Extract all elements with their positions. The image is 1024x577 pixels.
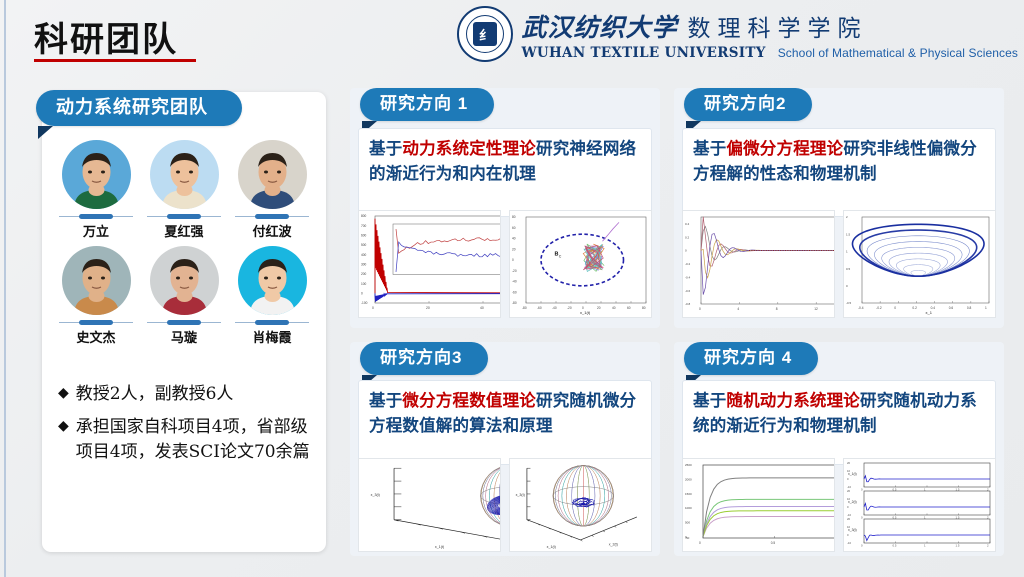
svg-text:0: 0	[699, 307, 701, 311]
member-name: 肖梅霞	[252, 327, 291, 346]
svg-text:-40: -40	[552, 306, 557, 310]
research-card-3: 研究方向3基于微分方程数值理论研究随机微分方程数值解的算法和原理x_3(t)x_…	[350, 342, 660, 556]
svg-text:80: 80	[642, 306, 646, 310]
svg-text:-60: -60	[537, 306, 542, 310]
svg-text:x_3(t): x_3(t)	[516, 493, 525, 497]
svg-text:0: 0	[894, 306, 896, 310]
bullet-text: 承担国家自科项目4项，省部级项目4项，发表SCI论文70余篇	[76, 415, 316, 466]
svg-text:20: 20	[847, 489, 851, 493]
svg-text:20: 20	[847, 517, 851, 521]
name-separator	[147, 214, 221, 219]
badge-label: 研究方向2	[684, 88, 812, 121]
seal-glyph: 纟	[459, 8, 511, 60]
svg-text:-0.2: -0.2	[685, 262, 691, 266]
svg-text:0: 0	[512, 258, 514, 262]
svg-text:0.2: 0.2	[912, 306, 917, 310]
svg-text:x_1(t): x_1(t)	[435, 545, 444, 549]
figure-thumbnail[interactable]: 0481216202428-0.8-0.6-0.4-0.200.20.4t	[682, 210, 835, 318]
badge-label: 研究方向 4	[684, 342, 818, 375]
avatar	[238, 246, 307, 315]
research-card-4: 研究方向 4基于随机动力系统理论研究随机动力系统的渐近行为和物理机制x_1x_2…	[674, 342, 1004, 556]
team-member-grid: 万立夏红强付红波史文杰马璇肖梅霞	[52, 140, 316, 352]
svg-text:20: 20	[512, 247, 516, 251]
svg-text:x_1(t): x_1(t)	[580, 310, 591, 315]
svg-text:-0.4: -0.4	[685, 275, 691, 279]
research-badge-1: 研究方向 1	[360, 88, 494, 121]
svg-text:x_3(t): x_3(t)	[371, 493, 380, 497]
team-member: 肖梅霞	[228, 246, 316, 346]
svg-text:300: 300	[361, 263, 367, 267]
svg-text:1500: 1500	[685, 492, 692, 496]
svg-text:600: 600	[361, 234, 367, 238]
research-badge-2: 研究方向2	[684, 88, 812, 121]
svg-text:0.8: 0.8	[967, 306, 972, 310]
member-name: 史文杰	[76, 327, 115, 346]
svg-text:2000: 2000	[685, 478, 692, 482]
logo-university-cn: 武汉纺织大学	[521, 8, 677, 44]
desc-pre: 基于	[369, 139, 402, 158]
svg-text:-0.5: -0.5	[846, 301, 852, 305]
svg-text:0.5: 0.5	[893, 544, 897, 548]
team-member: 夏红强	[140, 140, 228, 240]
team-member: 付红波	[228, 140, 316, 240]
team-member: 史文杰	[52, 246, 140, 346]
svg-text:80: 80	[512, 215, 516, 219]
svg-text:500: 500	[685, 520, 690, 524]
figure-thumbnail[interactable]: x_3(t)x_1(t)x_2(t)	[358, 458, 501, 552]
research-badge-4: 研究方向 4	[684, 342, 818, 375]
logo-university-en: WUHAN TEXTILE UNIVERSITY	[521, 45, 765, 61]
member-name: 付红波	[252, 221, 291, 240]
member-name: 万立	[83, 221, 109, 240]
svg-text:-0.6: -0.6	[685, 289, 691, 293]
svg-text:1000: 1000	[685, 506, 692, 510]
university-seal-icon: 纟	[457, 6, 513, 62]
svg-text:x_3(t): x_3(t)	[848, 528, 857, 532]
member-name: 马璇	[171, 327, 197, 346]
bullet-marker-icon: ◆	[58, 382, 69, 404]
research-description-3: 基于微分方程数值理论研究随机微分方程数值解的算法和原理	[358, 380, 652, 465]
svg-text:0: 0	[699, 541, 701, 545]
svg-text:8: 8	[776, 307, 778, 311]
svg-text:0: 0	[372, 306, 374, 310]
research-card-1: 研究方向 1基于动力系统定性理论研究神经网络的渐近行为和内在机理x_1(t)x_…	[350, 88, 660, 328]
desc-pre: 基于	[693, 139, 726, 158]
svg-text:-10: -10	[847, 541, 851, 545]
svg-text:0.5: 0.5	[771, 541, 776, 545]
badge-label: 研究方向 1	[360, 88, 494, 121]
svg-text:C: C	[559, 255, 562, 259]
logo-school-en: School of Mathematical & Physical Scienc…	[778, 46, 1018, 60]
figure-thumbnail[interactable]: -0.4-0.200.20.40.60.81-0.500.511.52x_1	[843, 210, 996, 318]
svg-text:-0.2: -0.2	[876, 306, 882, 310]
university-logo: 纟 武汉纺织大学 数理科学学院 WUHAN TEXTILE UNIVERSITY…	[457, 5, 1018, 63]
bullet-text: 教授2人，副教授6人	[76, 382, 316, 408]
research-description-2: 基于偏微分方程理论研究非线性偏微分方程解的性态和物理机制	[682, 128, 996, 217]
team-title: 动力系统研究团队	[36, 90, 242, 126]
desc-pre: 基于	[693, 391, 726, 410]
desc-highlight: 动力系统定性理论	[402, 139, 536, 158]
name-separator	[59, 214, 133, 219]
svg-text:1.5: 1.5	[956, 544, 960, 548]
logo-english-line: WUHAN TEXTILE UNIVERSITY School of Mathe…	[521, 45, 1018, 61]
svg-text:0.6: 0.6	[949, 306, 954, 310]
svg-text:x_1(t): x_1(t)	[547, 545, 556, 549]
svg-text:-60: -60	[512, 290, 517, 294]
team-title-badge: 动力系统研究团队	[36, 90, 242, 126]
svg-text:20: 20	[847, 461, 851, 465]
svg-text:x_1(t): x_1(t)	[848, 472, 857, 476]
svg-text:0.5: 0.5	[846, 267, 851, 271]
team-stat-item: ◆承担国家自科项目4项，省部级项目4项，发表SCI论文70余篇	[58, 415, 316, 466]
desc-highlight: 微分方程数值理论	[402, 391, 536, 410]
team-member: 马璇	[140, 246, 228, 346]
figure-thumbnail[interactable]: BC-80-60-40-20020406080-80-60-40-2002040…	[509, 210, 652, 318]
research-figures-4: x_1x_2x_3x_4x_500.511.52-500500100015002…	[682, 458, 996, 552]
svg-text:x_1: x_1	[926, 310, 933, 315]
svg-text:-20: -20	[567, 306, 572, 310]
left-edge-accent-line	[4, 0, 6, 577]
figure-thumbnail[interactable]: x_1x_2x_3x_4x_500.511.52-500500100015002…	[682, 458, 835, 552]
team-stat-item: ◆教授2人，副教授6人	[58, 382, 316, 408]
svg-text:400: 400	[361, 253, 367, 257]
team-panel: 动力系统研究团队 万立夏红强付红波史文杰马璇肖梅霞 ◆教授2人，副教授6人◆承担…	[42, 92, 326, 552]
logo-chinese-line: 武汉纺织大学 数理科学学院	[521, 8, 1018, 44]
avatar	[62, 140, 131, 209]
svg-text:4: 4	[737, 307, 739, 311]
svg-text:-40: -40	[512, 280, 517, 284]
svg-text:x_2(t): x_2(t)	[848, 500, 857, 504]
team-stats-list: ◆教授2人，副教授6人◆承担国家自科项目4项，省部级项目4项，发表SCI论文70…	[58, 382, 316, 473]
logo-text-block: 武汉纺织大学 数理科学学院 WUHAN TEXTILE UNIVERSITY S…	[521, 8, 1018, 61]
desc-pre: 基于	[369, 391, 402, 410]
svg-text:2500: 2500	[685, 463, 692, 467]
svg-text:-100: -100	[361, 301, 368, 305]
svg-text:60: 60	[512, 226, 516, 230]
research-figures-1: x_1(t)x_2(t)Times (Secs)020406080100-100…	[358, 210, 652, 318]
name-separator	[235, 214, 309, 219]
svg-text:-20: -20	[512, 269, 517, 273]
member-name: 夏红强	[164, 221, 203, 240]
slide-header: 科研团队 纟 武汉纺织大学 数理科学学院 WUHAN TEXTILE UNIVE…	[0, 0, 1024, 72]
name-separator	[235, 320, 309, 325]
research-figures-2: 0481216202428-0.8-0.6-0.4-0.200.20.4t-0.…	[682, 210, 996, 318]
svg-text:-80: -80	[522, 306, 527, 310]
svg-text:0.4: 0.4	[685, 222, 690, 226]
svg-text:40: 40	[612, 306, 616, 310]
svg-text:20: 20	[597, 306, 601, 310]
svg-text:0: 0	[361, 292, 363, 296]
badge-tail	[38, 126, 53, 139]
svg-text:800: 800	[361, 214, 367, 218]
research-description-1: 基于动力系统定性理论研究神经网络的渐近行为和内在机理	[358, 128, 652, 217]
svg-text:1.5: 1.5	[846, 232, 851, 236]
avatar	[238, 140, 307, 209]
research-description-4: 基于随机动力系统理论研究随机动力系统的渐近行为和物理机制	[682, 380, 996, 465]
svg-text:-0.4: -0.4	[858, 306, 864, 310]
svg-text:1: 1	[985, 306, 987, 310]
figure-thumbnail[interactable]: -100102000.511.52x_1(t)-100102000.511.52…	[843, 458, 996, 552]
badge-label: 研究方向3	[360, 342, 488, 375]
figure-thumbnail[interactable]: x_3(t)x_1(t)x_2(t)	[509, 458, 652, 552]
svg-text:40: 40	[512, 237, 516, 241]
svg-text:12: 12	[814, 307, 818, 311]
research-figures-3: x_3(t)x_1(t)x_2(t)x_3(t)x_1(t)x_2(t)	[358, 458, 652, 552]
svg-text:500: 500	[361, 243, 367, 247]
figure-thumbnail[interactable]: x_1(t)x_2(t)Times (Secs)020406080100-100…	[358, 210, 501, 318]
research-badge-3: 研究方向3	[360, 342, 488, 375]
svg-text:0.2: 0.2	[685, 235, 690, 239]
bullet-marker-icon: ◆	[58, 415, 69, 437]
avatar	[62, 246, 131, 315]
svg-text:60: 60	[627, 306, 631, 310]
svg-text:x_2(t): x_2(t)	[609, 542, 618, 546]
svg-text:200: 200	[361, 272, 367, 276]
svg-text:40: 40	[480, 306, 484, 310]
desc-highlight: 偏微分方程理论	[726, 139, 843, 158]
title-underline	[34, 59, 196, 62]
avatar	[150, 246, 219, 315]
desc-highlight: 随机动力系统理论	[726, 391, 860, 410]
svg-text:20: 20	[426, 306, 430, 310]
avatar	[150, 140, 219, 209]
name-separator	[59, 320, 133, 325]
page-title: 科研团队	[34, 12, 178, 61]
svg-text:700: 700	[361, 224, 367, 228]
name-separator	[147, 320, 221, 325]
svg-text:100: 100	[361, 282, 367, 286]
team-member: 万立	[52, 140, 140, 240]
logo-school-cn: 数理科学学院	[687, 9, 867, 43]
svg-text:-80: -80	[512, 301, 517, 305]
research-card-2: 研究方向2基于偏微分方程理论研究非线性偏微分方程解的性态和物理机制0481216…	[674, 88, 1004, 328]
svg-text:Times (Secs): Times (Secs)	[500, 310, 501, 315]
svg-text:-0.8: -0.8	[685, 302, 691, 306]
